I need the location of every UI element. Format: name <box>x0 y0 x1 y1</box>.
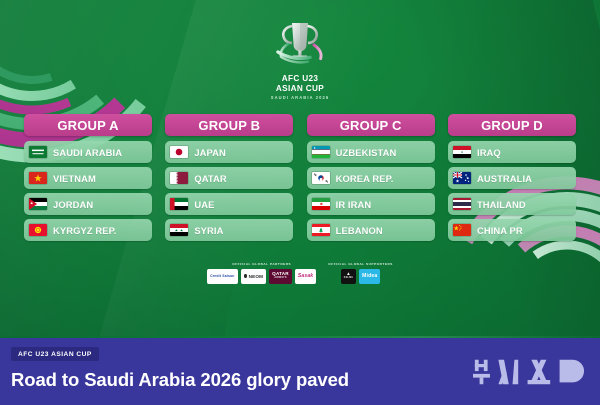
partners-title: OFFICIAL GLOBAL PARTNERS <box>232 262 291 266</box>
team-name: CHINA PR <box>477 225 523 236</box>
sponsor-strip: OFFICIAL GLOBAL PARTNERS Credit Saison N… <box>0 262 600 284</box>
china-flag <box>453 224 471 236</box>
group-b-header: GROUP B <box>165 114 293 136</box>
australia-flag <box>453 172 471 184</box>
team-name: IRAQ <box>477 147 501 158</box>
page-title: Road to Saudi Arabia 2026 glory paved <box>11 369 349 391</box>
team-name: VIETNAM <box>53 173 96 184</box>
sponsor-logo-sasak[interactable]: Sasak <box>295 269 316 284</box>
screenshot-root: AFC U23 ASIAN CUP SAUDI ARABIA 2026 GROU… <box>0 0 600 405</box>
sponsor-name: Sasak <box>298 273 313 279</box>
afc-u23-asian-cup-logo: AFC U23 ASIAN CUP SAUDI ARABIA 2026 <box>254 20 346 101</box>
team-name: AUSTRALIA <box>477 173 532 184</box>
logo-line-3: SAUDI ARABIA 2026 <box>254 94 346 101</box>
official-global-supporters-block: OFFICIAL GLOBAL SUPPORTERS ▲ KELME Midea <box>328 262 393 284</box>
table-row[interactable]: UAE <box>165 193 293 215</box>
table-row[interactable]: THAILAND <box>448 193 576 215</box>
group-a-rows: SAUDI ARABIA VIETNAM JORDAN <box>24 141 152 241</box>
sponsor-logo-midea[interactable]: Midea <box>359 269 380 284</box>
table-row[interactable]: UZBEKISTAN <box>307 141 435 163</box>
thailand-flag <box>453 198 471 210</box>
kyrgyzstan-flag <box>29 224 47 236</box>
group-d: GROUP D ☘ IRAQ AUSTRALIA <box>448 114 576 241</box>
sponsor-name: Midea <box>362 273 377 279</box>
table-row[interactable]: QATAR <box>165 167 293 189</box>
group-d-rows: ☘ IRAQ AUSTRALIA THAILA <box>448 141 576 241</box>
group-c-header: GROUP C <box>307 114 435 136</box>
team-name: LEBANON <box>336 225 383 236</box>
jordan-flag <box>29 198 47 210</box>
group-a: GROUP A SAUDI ARABIA VIETNAM <box>24 114 152 241</box>
table-row[interactable]: JAPAN <box>165 141 293 163</box>
newsis-logo <box>473 356 586 388</box>
iraq-flag: ☘ <box>453 146 471 158</box>
uzbekistan-flag <box>312 146 330 158</box>
group-draw-tables: GROUP A SAUDI ARABIA VIETNAM <box>24 114 576 241</box>
group-b: GROUP B JAPAN QATAR <box>165 114 293 241</box>
table-row[interactable]: AUSTRALIA <box>448 167 576 189</box>
table-row[interactable]: SAUDI ARABIA <box>24 141 152 163</box>
team-name: KOREA REP. <box>336 173 394 184</box>
team-name: KYRGYZ REP. <box>53 225 116 236</box>
logo-line-2: ASIAN CUP <box>254 84 346 94</box>
saudi-arabia-flag <box>29 146 47 158</box>
syria-flag <box>170 224 188 236</box>
trophy-icon <box>254 20 346 74</box>
table-row[interactable]: KYRGYZ REP. <box>24 219 152 241</box>
table-row[interactable]: VIETNAM <box>24 167 152 189</box>
iran-flag <box>312 198 330 210</box>
table-row[interactable]: LEBANON <box>307 219 435 241</box>
sponsor-logo-qatar-airways[interactable]: QATAR AIRWAYS <box>269 269 292 284</box>
team-name: SYRIA <box>194 225 223 236</box>
news-banner: AFC U23 ASIAN CUP Road to Saudi Arabia 2… <box>0 338 600 405</box>
group-c: GROUP C UZBEKISTAN KOREA REP. <box>307 114 435 241</box>
qatar-flag <box>170 172 188 184</box>
vietnam-flag <box>29 172 47 184</box>
table-row[interactable]: KOREA REP. <box>307 167 435 189</box>
partners-logos: Credit Saison NEOM QATAR AIRWAYS <box>207 269 316 284</box>
table-row[interactable]: SYRIA <box>165 219 293 241</box>
team-name: QATAR <box>194 173 226 184</box>
table-row[interactable]: IR IRAN <box>307 193 435 215</box>
team-name: UZBEKISTAN <box>336 147 397 158</box>
team-name: SAUDI ARABIA <box>53 147 122 158</box>
table-row[interactable]: JORDAN <box>24 193 152 215</box>
group-c-rows: UZBEKISTAN KOREA REP. IR IRAN <box>307 141 435 241</box>
sponsor-name: QATAR <box>272 271 289 276</box>
supporters-title: OFFICIAL GLOBAL SUPPORTERS <box>328 262 393 266</box>
table-row[interactable]: ☘ IRAQ <box>448 141 576 163</box>
uae-flag <box>170 198 188 210</box>
sponsor-name: Credit Saison <box>210 274 234 278</box>
official-global-partners-block: OFFICIAL GLOBAL PARTNERS Credit Saison N… <box>207 262 316 284</box>
team-name: IR IRAN <box>336 199 372 210</box>
sponsor-logo-credit-saison[interactable]: Credit Saison <box>207 269 237 284</box>
supporters-logos: ▲ KELME Midea <box>341 269 381 284</box>
sponsor-name: NEOM <box>249 274 264 279</box>
lebanon-flag <box>312 224 330 236</box>
team-name: JORDAN <box>53 199 93 210</box>
sponsor-logo-neom[interactable]: NEOM <box>241 269 267 284</box>
japan-flag <box>170 146 188 158</box>
logo-line-1: AFC U23 <box>254 74 346 84</box>
status-badge: AFC U23 ASIAN CUP <box>11 347 99 361</box>
team-name: UAE <box>194 199 214 210</box>
table-row[interactable]: CHINA PR <box>448 219 576 241</box>
sponsor-logo-kelme[interactable]: ▲ KELME <box>341 269 356 284</box>
team-name: JAPAN <box>194 147 226 158</box>
south-korea-flag <box>312 172 330 184</box>
group-a-header: GROUP A <box>24 114 152 136</box>
sponsor-name: KELME <box>344 276 353 280</box>
group-b-rows: JAPAN QATAR UAE <box>165 141 293 241</box>
sponsor-subtitle: AIRWAYS <box>272 276 289 280</box>
background-field: AFC U23 ASIAN CUP SAUDI ARABIA 2026 GROU… <box>0 0 600 338</box>
team-name: THAILAND <box>477 199 526 210</box>
group-d-header: GROUP D <box>448 114 576 136</box>
